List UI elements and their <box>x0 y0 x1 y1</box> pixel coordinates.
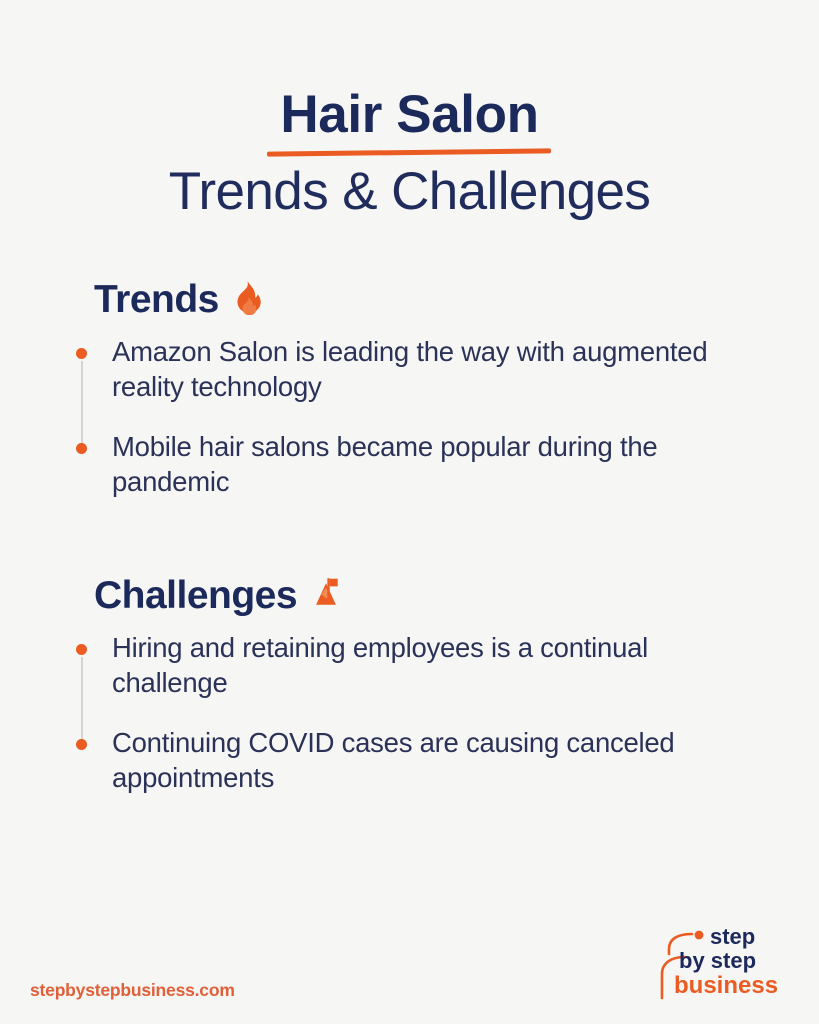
list-item-text: Hiring and retaining employees is a cont… <box>112 631 752 700</box>
section-challenges: Challenges Hiring and retaining employee… <box>72 575 772 796</box>
bullet-dot-icon <box>76 443 87 454</box>
page-subtitle: Trends & Challenges <box>0 163 819 221</box>
logo-line-1: step <box>710 924 755 949</box>
logo-dot-icon <box>695 931 704 940</box>
title-underline-accent <box>267 149 551 157</box>
mountain-flag-icon <box>308 575 348 617</box>
title-main-wrap: Hair Salon <box>280 86 538 143</box>
list-item: Amazon Salon is leading the way with aug… <box>72 335 772 404</box>
logo-line-3: business <box>674 972 778 999</box>
section-heading-challenges: Challenges <box>94 575 772 617</box>
section-trends: Trends Amazon Salon is leading the way w… <box>72 279 772 500</box>
list-item: Hiring and retaining employees is a cont… <box>72 631 772 700</box>
logo-line-2: by step <box>679 948 756 973</box>
title-block: Hair Salon Trends & Challenges <box>0 86 819 222</box>
bullet-dot-icon <box>76 348 87 359</box>
section-heading-trends: Trends <box>94 279 772 321</box>
list-item-text: Mobile hair salons became popular during… <box>112 430 752 499</box>
fire-icon <box>230 279 270 321</box>
list-item: Mobile hair salons became popular during… <box>72 430 772 499</box>
list-item: Continuing COVID cases are causing cance… <box>72 726 772 795</box>
section-title-trends: Trends <box>94 280 219 321</box>
bullet-dot-icon <box>76 644 87 655</box>
footer-website-url: stepbystepbusiness.com <box>30 980 235 1001</box>
list-item-text: Continuing COVID cases are causing cance… <box>112 726 752 795</box>
page-title: Hair Salon <box>280 86 538 143</box>
infographic-card: Hair Salon Trends & Challenges Trends Am… <box>0 0 819 1024</box>
list-item-text: Amazon Salon is leading the way with aug… <box>112 335 752 404</box>
section-title-challenges: Challenges <box>94 576 297 617</box>
bullet-dot-icon <box>76 739 87 750</box>
bullet-list-trends: Amazon Salon is leading the way with aug… <box>72 335 772 500</box>
brand-logo: step by step business <box>652 924 797 1006</box>
bullet-list-challenges: Hiring and retaining employees is a cont… <box>72 631 772 796</box>
